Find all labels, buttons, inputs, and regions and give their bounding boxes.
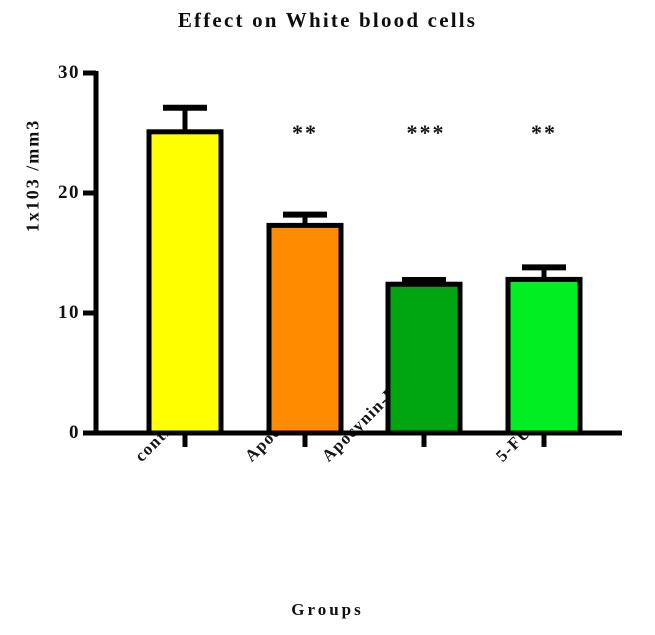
bar-control: [149, 132, 221, 433]
bar-apocynin-ha: [388, 284, 460, 433]
bar-apocynin: [269, 225, 341, 433]
plot-area: [0, 0, 655, 635]
bars-group: [149, 132, 580, 433]
chart-container: Effect on White blood cells 1x103 /mm3 G…: [0, 0, 655, 635]
bar-5-fu: [508, 279, 580, 433]
